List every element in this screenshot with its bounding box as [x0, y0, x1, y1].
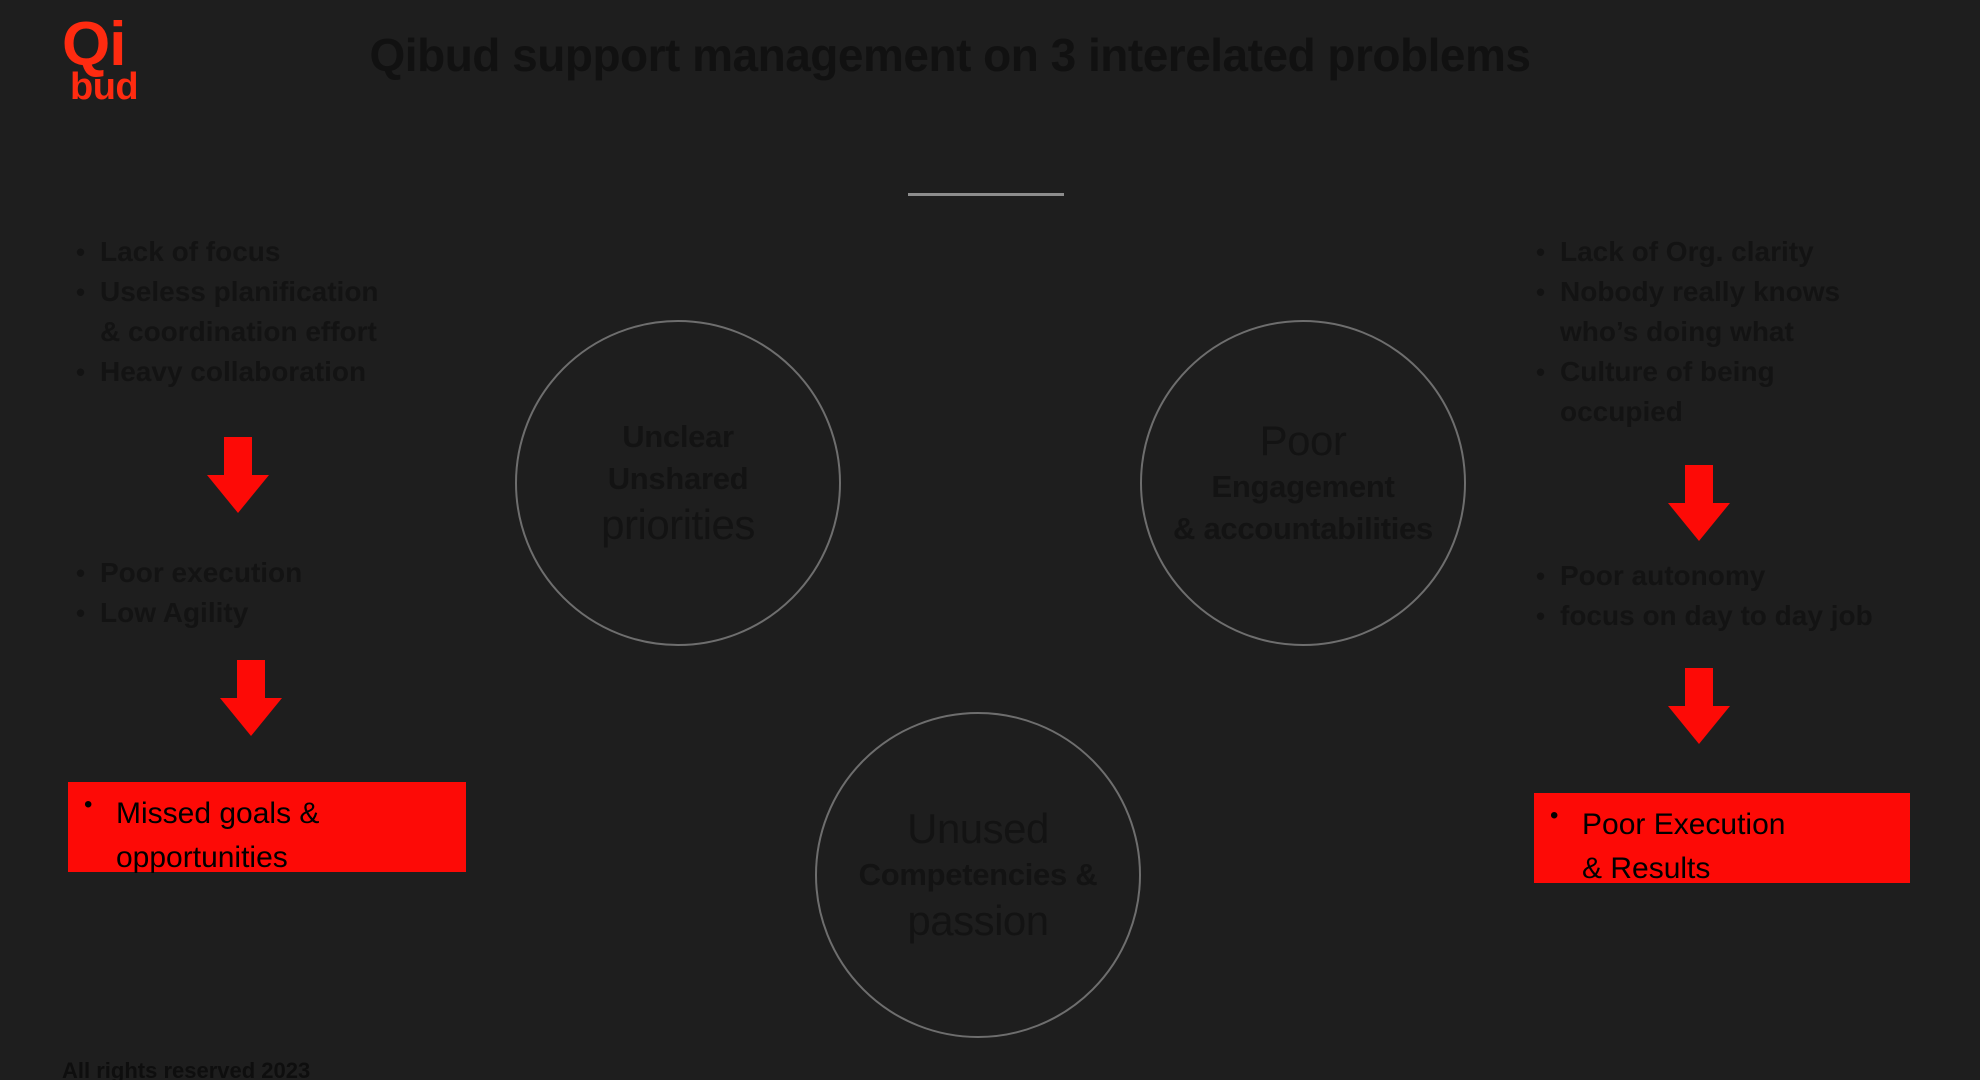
list-item-label: Useless planification & coordination eff…	[100, 272, 492, 352]
down-arrow-icon-right-upper	[1668, 465, 1730, 539]
list-item-label: Poor execution	[100, 553, 492, 593]
circle-unused-competencies: Unused Competencies & passion	[815, 712, 1141, 1038]
circle-line-unshared: Unshared	[608, 458, 749, 500]
list-item: • Lack of focus	[62, 232, 492, 272]
bullet-icon: •	[62, 352, 100, 392]
bullet-icon: •	[1522, 232, 1560, 272]
list-item-line-2: who’s doing what	[1560, 312, 1972, 352]
logo-line-bud: bud	[70, 68, 192, 106]
down-arrow-icon-left-upper	[207, 437, 269, 511]
right-causes-list: • Lack of Org. clarity • Nobody really k…	[1522, 232, 1972, 432]
down-arrow-icon-right-lower	[1668, 668, 1730, 742]
left-outcome-line-1: Missed goals &	[116, 797, 319, 830]
right-effects-list: • Poor autonomy • focus on day to day jo…	[1522, 556, 1980, 636]
list-item: • Poor execution	[62, 553, 492, 593]
list-item-line-1: Culture of being	[1560, 356, 1775, 387]
bullet-icon: •	[62, 232, 100, 272]
circle-line-unclear: Unclear	[622, 416, 734, 458]
bullet-icon: •	[1534, 793, 1582, 839]
list-item-line-2: & coordination effort	[100, 312, 492, 352]
right-outcome-line-1: Poor Execution	[1582, 808, 1785, 841]
list-item: • Poor autonomy	[1522, 556, 1980, 596]
list-item-label: Low Agility	[100, 593, 492, 633]
list-item-line-1: Nobody really knows	[1560, 276, 1840, 307]
circle-unclear-priorities: Unclear Unshared priorities	[515, 320, 841, 646]
arrow-head	[220, 698, 282, 736]
circle-line-engagement: Engagement	[1211, 466, 1394, 508]
right-outcome-box: • Poor Execution & Results	[1534, 793, 1910, 883]
slide-title: Qibud support management on 3 interelate…	[240, 28, 1660, 82]
right-outcome-label: Poor Execution & Results	[1582, 793, 1910, 891]
arrow-stem	[1685, 465, 1713, 505]
qibud-logo: Qi bud	[62, 14, 192, 124]
down-arrow-icon-left-lower	[220, 660, 282, 734]
list-item: • Useless planification & coordination e…	[62, 272, 492, 352]
list-item: • Culture of being occupied	[1522, 352, 1972, 432]
arrow-head	[207, 475, 269, 513]
title-divider	[908, 193, 1064, 196]
arrow-head	[1668, 706, 1730, 744]
list-item-label: Heavy collaboration	[100, 352, 492, 392]
arrow-stem	[237, 660, 265, 700]
circle-line-competencies: Competencies &	[859, 854, 1098, 896]
list-item-line-2: occupied	[1560, 392, 1972, 432]
left-outcome-line-2: opportunities	[116, 836, 466, 880]
list-item-label: Poor autonomy	[1560, 556, 1980, 596]
circle-line-accountabilities: & accountabilities	[1173, 508, 1433, 550]
list-item-label: Culture of being occupied	[1560, 352, 1972, 432]
list-item-label: Nobody really knows who’s doing what	[1560, 272, 1972, 352]
arrow-stem	[1685, 668, 1713, 708]
circle-line-unused: Unused	[907, 804, 1049, 854]
list-item-label: Lack of Org. clarity	[1560, 232, 1972, 272]
list-item-label: Lack of focus	[100, 232, 492, 272]
list-item-line-1: Useless planification	[100, 276, 379, 307]
copyright-footer: All rights reserved 2023	[62, 1058, 310, 1080]
circle-line-poor: Poor	[1260, 416, 1347, 466]
left-causes-list: • Lack of focus • Useless planification …	[62, 232, 492, 392]
list-item: • Lack of Org. clarity	[1522, 232, 1972, 272]
bullet-icon: •	[62, 272, 100, 312]
bullet-icon: •	[1522, 556, 1560, 596]
bullet-icon: •	[68, 782, 116, 828]
circle-line-passion: passion	[907, 896, 1048, 946]
bullet-icon: •	[62, 553, 100, 593]
list-item: • Heavy collaboration	[62, 352, 492, 392]
left-outcome-box: • Missed goals & opportunities	[68, 782, 466, 872]
arrow-stem	[224, 437, 252, 477]
bullet-icon: •	[1522, 596, 1560, 636]
list-item: • Low Agility	[62, 593, 492, 633]
circle-poor-engagement: Poor Engagement & accountabilities	[1140, 320, 1466, 646]
left-outcome-label: Missed goals & opportunities	[116, 782, 466, 880]
list-item: • focus on day to day job	[1522, 596, 1980, 636]
bullet-icon: •	[1522, 352, 1560, 392]
left-effects-list: • Poor execution • Low Agility	[62, 553, 492, 633]
slide-canvas: Qi bud Qibud support management on 3 int…	[0, 0, 1980, 1080]
right-outcome-line-2: & Results	[1582, 847, 1910, 891]
bullet-icon: •	[1522, 272, 1560, 312]
bullet-icon: •	[62, 593, 100, 633]
circle-line-priorities: priorities	[601, 500, 755, 550]
list-item: • Nobody really knows who’s doing what	[1522, 272, 1972, 352]
arrow-head	[1668, 503, 1730, 541]
list-item-label: focus on day to day job	[1560, 596, 1980, 636]
